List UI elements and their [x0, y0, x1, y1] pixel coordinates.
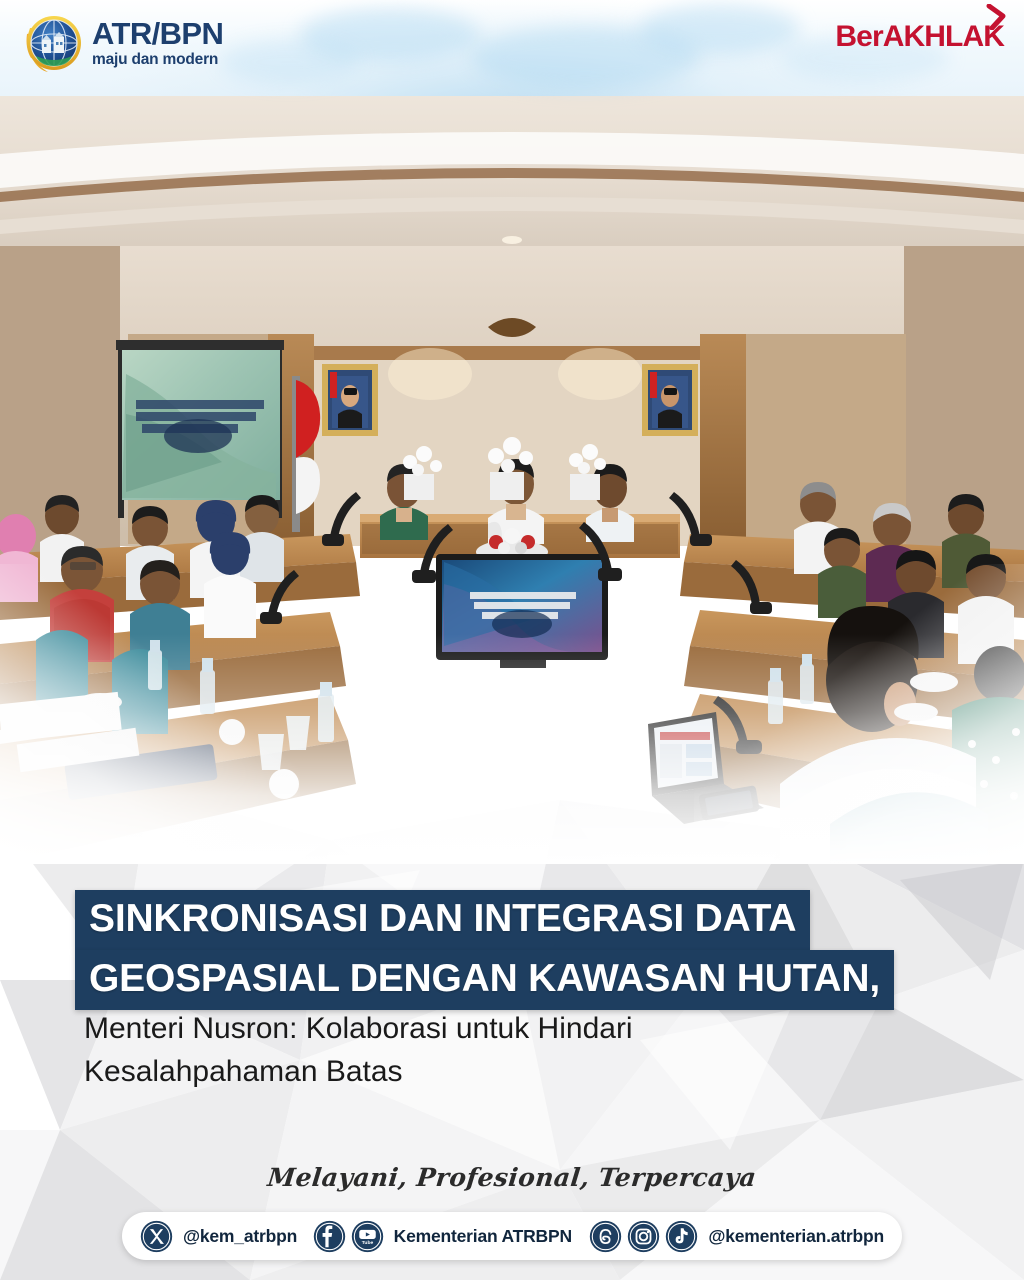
- social-handle-threads-instagram-tiktok[interactable]: @kementerian.atrbpn: [708, 1226, 884, 1247]
- atrbpn-logo-tagline: maju dan modern: [92, 52, 223, 68]
- atrbpn-globe-icon: [24, 12, 82, 74]
- social-group-x: @kem_atrbpn: [140, 1220, 297, 1253]
- atrbpn-logo-title: ATR/BPN: [92, 18, 223, 49]
- svg-text:Tube: Tube: [361, 1239, 373, 1245]
- subheadline: Menteri Nusron: Kolaborasi untuk Hindari…: [84, 1008, 633, 1093]
- instagram-icon[interactable]: [627, 1220, 660, 1253]
- berakhlak-swoosh-icon: [986, 4, 1008, 30]
- youtube-icon[interactable]: Tube: [351, 1220, 384, 1253]
- social-group-facebook-youtube: Tube Kementerian ATRBPN: [313, 1220, 572, 1253]
- poster-root: ATR/BPN maju dan modern BerAKHLAK SINKRO…: [0, 0, 1024, 1280]
- facebook-icon[interactable]: [313, 1220, 346, 1253]
- berakhlak-logo-title: BerAKHLAK: [835, 20, 1004, 54]
- berakhlak-logo: BerAKHLAK: [835, 20, 1004, 54]
- tagline: Melayani, Profesional, Terpercaya: [0, 1163, 1024, 1192]
- tiktok-icon[interactable]: [665, 1220, 698, 1253]
- atrbpn-logo: ATR/BPN maju dan modern: [24, 12, 223, 74]
- social-handle-facebook-youtube[interactable]: Kementerian ATRBPN: [394, 1226, 572, 1247]
- subheadline-line-2: Kesalahpahaman Batas: [84, 1051, 633, 1094]
- social-group-threads-instagram-tiktok: @kementerian.atrbpn: [589, 1220, 884, 1253]
- threads-icon[interactable]: [589, 1220, 622, 1253]
- social-media-bar: @kem_atrbpn Tube Kementerian ATRBPN: [122, 1212, 902, 1260]
- x-twitter-icon[interactable]: [140, 1220, 173, 1253]
- subheadline-line-1: Menteri Nusron: Kolaborasi untuk Hindari: [84, 1008, 633, 1051]
- meeting-photo: [0, 84, 1024, 864]
- headline-line-2: GEOSPASIAL DENGAN KAWASAN HUTAN,: [75, 950, 894, 1010]
- meeting-photo-illustration: [0, 84, 1024, 864]
- headline-line-1: SINKRONISASI DAN INTEGRASI DATA: [75, 890, 810, 950]
- headline: SINKRONISASI DAN INTEGRASI DATA GEOSPASI…: [75, 890, 894, 1010]
- social-handle-x[interactable]: @kem_atrbpn: [183, 1226, 297, 1247]
